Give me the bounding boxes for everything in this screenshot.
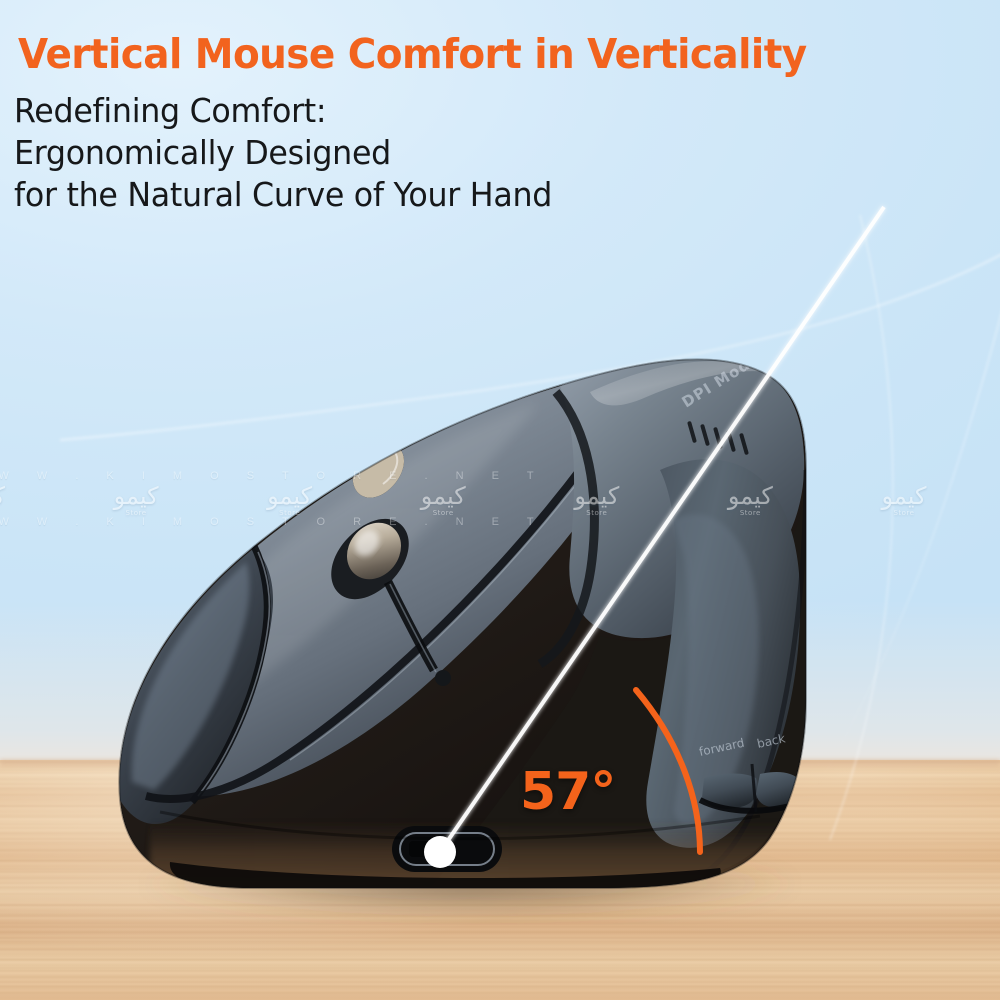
subtitle-line-2: Ergonomically Designed — [14, 132, 552, 174]
subtitle-line-1: Redefining Comfort: — [14, 90, 552, 132]
page-subtitle: Redefining Comfort: Ergonomically Design… — [14, 90, 552, 217]
mouse-body-group: DPI Mode forward back — [119, 349, 806, 890]
page-title: Vertical Mouse Comfort in Verticality — [18, 34, 807, 75]
subtitle-line-3: for the Natural Curve of Your Hand — [14, 174, 552, 216]
toggle-switch-slot[interactable] — [409, 841, 439, 857]
product-marketing-image: DPI Mode forward back — [0, 0, 1000, 1000]
angle-value-label: 57° — [520, 766, 615, 818]
wheel-groove-end — [435, 670, 451, 686]
